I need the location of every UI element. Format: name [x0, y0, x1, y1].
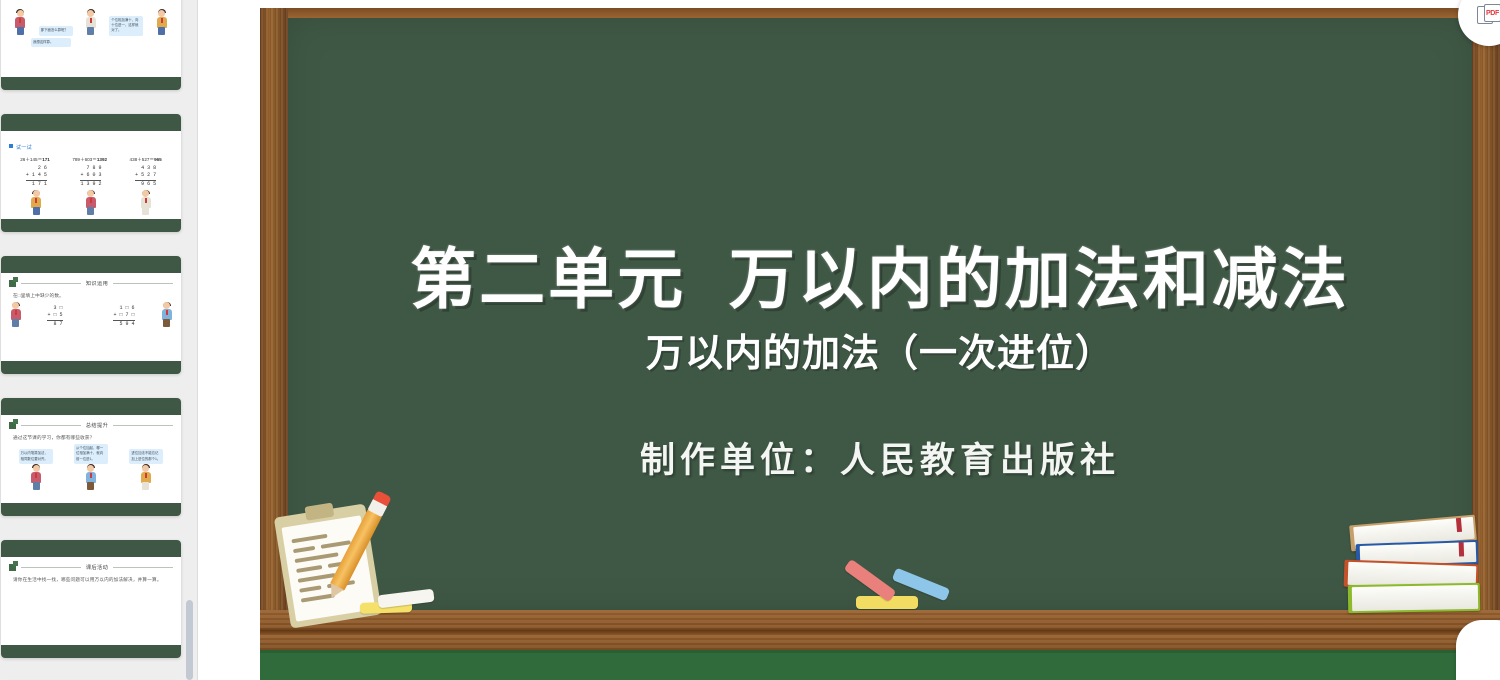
- thumb-footer-bar: [1, 645, 181, 658]
- divider: [21, 283, 81, 284]
- thumb-equation-fragment: 9 3 3 2 3: [9, 0, 173, 1]
- student-figure: [14, 10, 27, 36]
- thumb-content: 知识运用 在□里填上中缺少的数。 3 □ + □ 5 8 7: [1, 273, 181, 361]
- slide-thumbnail-3[interactable]: 知识运用 在□里填上中缺少的数。 3 □ + □ 5 8 7: [1, 256, 181, 374]
- thumb-figure-row: [9, 190, 173, 216]
- slide-stage: 第二单元 万以内的加法和减法 万以内的加法（一次进位） 制作单位：人民教育出版社: [198, 0, 1500, 680]
- column-sum: 3 □ + □ 5 8 7: [47, 305, 62, 328]
- slide-thumbnail-2[interactable]: 试一试 26＋145＝171 789＋603＝1392 438＋527＝965 …: [1, 114, 181, 232]
- thumb-dialogue-row: 那下面怎么算呢？ 个位相加满十，向十位进一，这样就对了。: [9, 10, 173, 36]
- thumb-section-label: 试一试: [9, 136, 173, 154]
- slide-thumbnail-1[interactable]: 9 3 3 2 3 那下面怎么算呢？ 个位相加满十，向十位进一，这样就对了。: [1, 0, 181, 90]
- slide-thumbnail-5[interactable]: 课后活动 请你在生活中找一找，哪些问题可以用万以内的加法解决，并算一算。: [1, 540, 181, 658]
- student-figure: [30, 465, 43, 491]
- equation-item: 438＋527＝965: [130, 157, 162, 163]
- student-figure: [9, 302, 22, 328]
- thumb-instruction: 在□里填上中缺少的数。: [13, 292, 173, 299]
- thumb-header-bar: [1, 114, 181, 131]
- speech-bubble: 我想这样算。: [31, 38, 71, 47]
- student-figure: [139, 190, 152, 216]
- book-green: [1348, 583, 1480, 613]
- thumb-section-heading: 知识运用: [9, 280, 173, 287]
- thumb-footer-bar: [1, 361, 181, 374]
- bullet-square-icon: [9, 144, 13, 148]
- divider: [113, 425, 173, 426]
- thumb-bubble-row: 万以内笔算加法，相同数位要对齐。 从个位加起，哪一位相加满十，就向前一位进1。 …: [9, 444, 173, 463]
- floating-tool-panel[interactable]: [1456, 620, 1500, 680]
- divider: [113, 283, 173, 284]
- student-figure: [84, 10, 97, 36]
- chalkboard-ledge-lip: [260, 630, 1500, 635]
- divider: [21, 425, 81, 426]
- thumb-footer-bar: [1, 219, 181, 232]
- column-sum: 1 □ 6 + □ 7 □ 5 9 4: [113, 305, 134, 328]
- speech-bubble: 万以内笔算加法，相同数位要对齐。: [19, 449, 53, 463]
- divider: [21, 567, 81, 568]
- student-figure: [84, 190, 97, 216]
- equation-item: 789＋603＝1392: [72, 157, 107, 163]
- thumb-section-heading: 课后活动: [9, 564, 173, 571]
- thumb-footer-bar: [1, 503, 181, 516]
- square-bullet-icon: [9, 422, 16, 429]
- thumb-section-heading: 总结提升: [9, 422, 173, 429]
- thumb-footer-bar: [1, 77, 181, 90]
- thumb-instruction: 通过这节课的学习，你都有哪些收获？: [13, 434, 173, 441]
- thumbnail-list: 9 3 3 2 3 那下面怎么算呢？ 个位相加满十，向十位进一，这样就对了。: [0, 0, 186, 680]
- square-bullet-icon: [9, 280, 16, 287]
- column-sum: 7 8 9 + 6 0 3 1 3 9 2: [80, 165, 101, 188]
- slide-thumbnail-4[interactable]: 总结提升 通过这节课的学习，你都有哪些收获？ 万以内笔算加法，相同数位要对齐。 …: [1, 398, 181, 516]
- column-sum: 4 3 8 + 5 2 7 9 6 5: [135, 165, 156, 188]
- student-figure: [160, 302, 173, 328]
- floor-strip: [260, 650, 1500, 680]
- speech-bubble: 进位加法不能忘记加上进位的那个1。: [129, 449, 163, 463]
- thumb-header-bar: [1, 398, 181, 415]
- thumb-header-bar: [1, 540, 181, 557]
- thumb-equation-row: 26＋145＝171 789＋603＝1392 438＋527＝965: [9, 157, 173, 163]
- student-figure: [30, 190, 43, 216]
- speech-bubble: 从个位加起，哪一位相加满十，就向前一位进1。: [74, 444, 108, 463]
- chalkboard-frame-top: [260, 8, 1500, 18]
- thumb-column-sums: 2 6 + 1 4 5 1 7 1 7 8 9 + 6 0 3 1 3 9 2 …: [9, 165, 173, 188]
- slide-author-credit: 制作单位：人民教育出版社: [260, 432, 1500, 483]
- equation-item: 26＋145＝171: [20, 157, 50, 163]
- square-bullet-icon: [9, 564, 16, 571]
- student-figure: [155, 10, 168, 36]
- student-figure: [139, 465, 152, 491]
- thumb-column-sums: 3 □ + □ 5 8 7 1 □ 6 + □ 7 □ 5 9 4: [22, 305, 160, 328]
- thumb-figure-row: [9, 465, 173, 491]
- column-sum: 2 6 + 1 4 5 1 7 1: [26, 165, 47, 188]
- thumb-header-bar: [1, 256, 181, 273]
- speech-bubble: 个位相加满十，向十位进一，这样就对了。: [109, 16, 143, 35]
- current-slide[interactable]: 第二单元 万以内的加法和减法 万以内的加法（一次进位） 制作单位：人民教育出版社: [260, 8, 1500, 680]
- speech-bubble: 那下面怎么算呢？: [39, 26, 73, 35]
- presentation-viewer: 9 3 3 2 3 那下面怎么算呢？ 个位相加满十，向十位进一，这样就对了。: [0, 0, 1500, 680]
- divider: [113, 567, 173, 568]
- book-stack-icon: [1344, 520, 1484, 632]
- sidebar-scrollbar-thumb[interactable]: [186, 600, 193, 680]
- student-figure: [84, 465, 97, 491]
- thumb-content: 试一试 26＋145＝171 789＋603＝1392 438＋527＝965 …: [1, 131, 181, 219]
- thumb-instruction: 请你在生活中找一找，哪些问题可以用万以内的加法解决，并算一算。: [13, 576, 173, 583]
- slide-title: 第二单元 万以内的加法和减法: [260, 226, 1500, 322]
- thumb-content: 总结提升 通过这节课的学习，你都有哪些收获？ 万以内笔算加法，相同数位要对齐。 …: [1, 415, 181, 503]
- thumb-content: 课后活动 请你在生活中找一找，哪些问题可以用万以内的加法解决，并算一算。: [1, 557, 181, 645]
- thumb-content: 9 3 3 2 3 那下面怎么算呢？ 个位相加满十，向十位进一，这样就对了。: [1, 0, 181, 77]
- slide-thumbnail-sidebar[interactable]: 9 3 3 2 3 那下面怎么算呢？ 个位相加满十，向十位进一，这样就对了。: [0, 0, 197, 680]
- slide-subtitle: 万以内的加法（一次进位）: [260, 322, 1500, 377]
- pdf-document-icon: PDF: [1477, 4, 1500, 26]
- sidebar-scrollbar-track[interactable]: [186, 0, 193, 680]
